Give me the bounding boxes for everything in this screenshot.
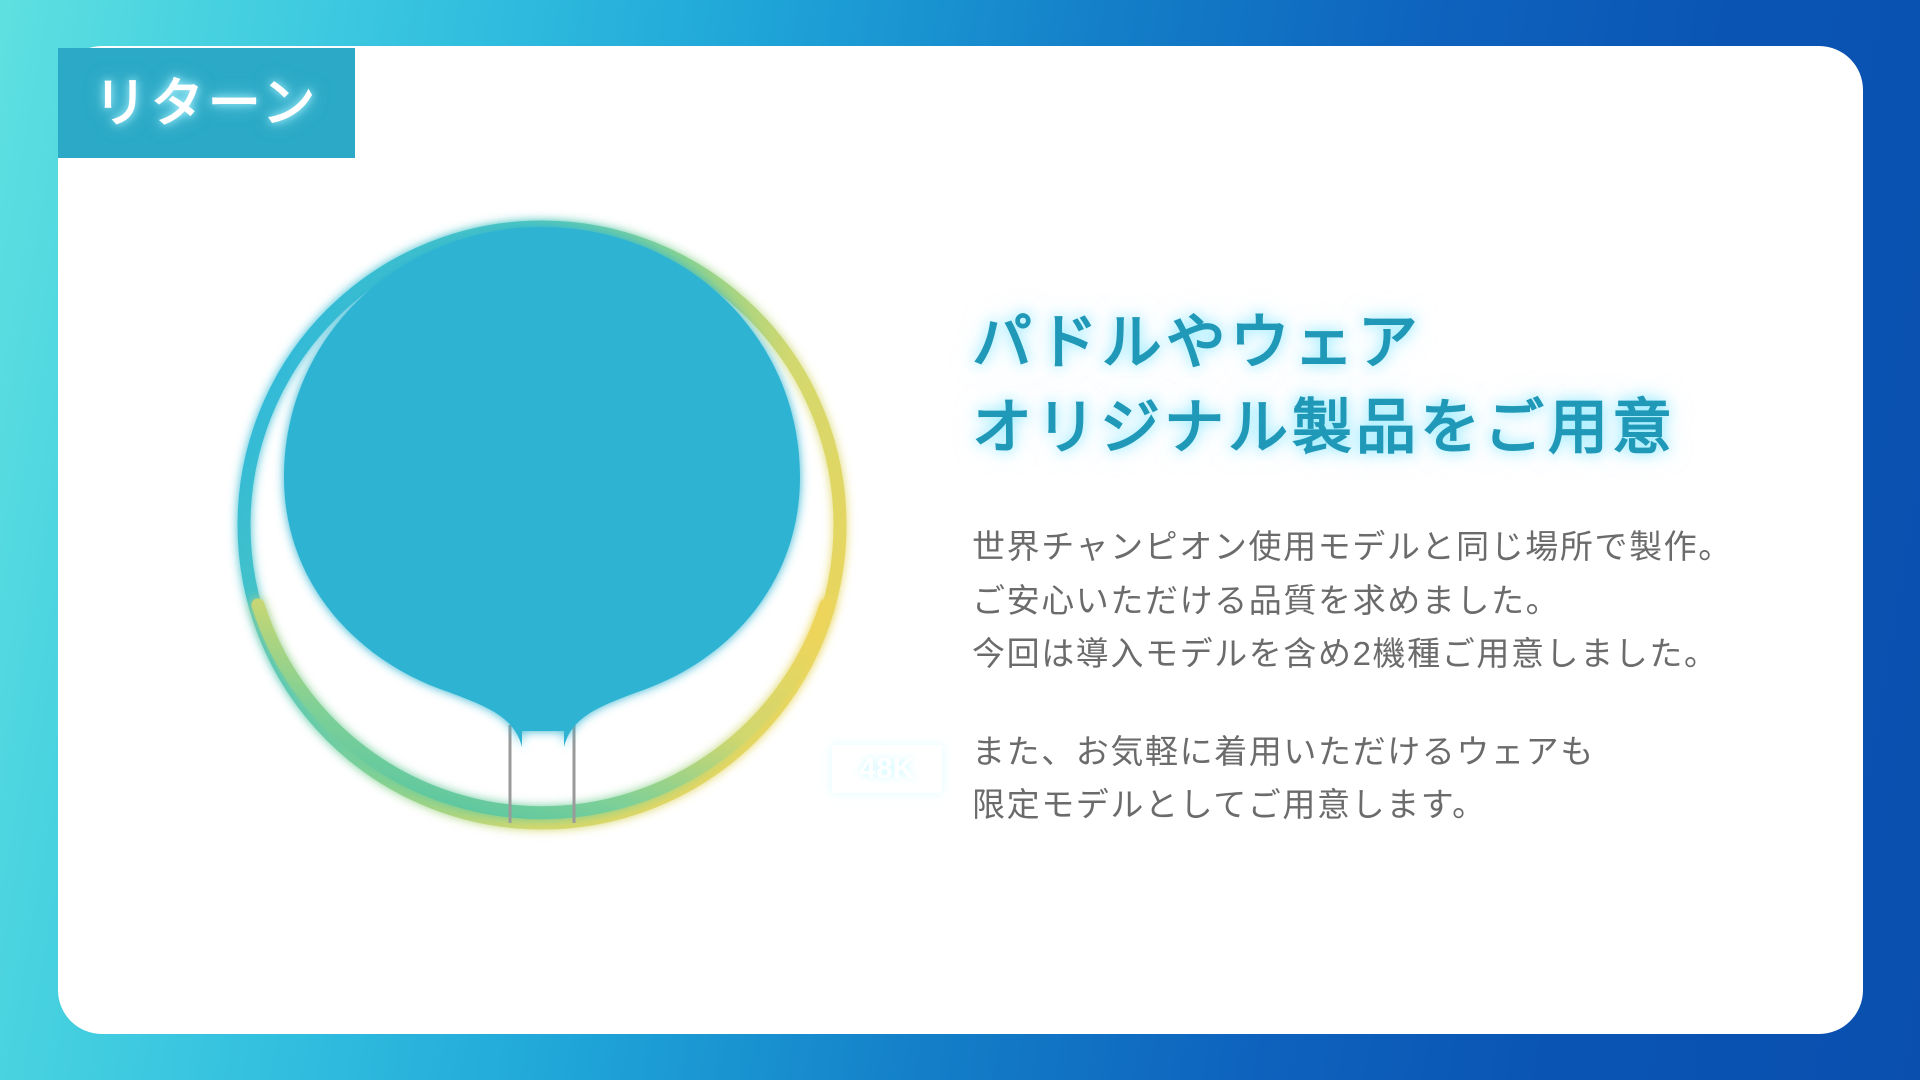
paragraph-1: 世界チャンピオン使用モデルと同じ場所で製作。 ご安心いただける品質を求めました。… (972, 520, 1822, 680)
spec-badge-label: 48K (860, 755, 915, 784)
body-copy: 世界チャンピオン使用モデルと同じ場所で製作。 ご安心いただける品質を求めました。… (972, 520, 1822, 831)
spec-badge-48k: 48K (832, 745, 942, 793)
headline: パドルやウェア オリジナル製品をご用意 (972, 300, 1822, 470)
paragraph-1-line-3: 今回は導入モデルを含め2機種ご用意しました。 (972, 627, 1822, 680)
paddle-illustration: 48K (222, 205, 862, 845)
paddle-face (284, 227, 800, 747)
paragraph-2: また、お気軽に着用いただけるウェアも 限定モデルとしてご用意します。 (972, 725, 1822, 832)
section-badge-label: リターン (94, 77, 319, 130)
slide-root: リターン (0, 0, 1920, 1080)
headline-line-1: パドルやウェア (972, 300, 1822, 385)
paragraph-1-line-2: ご安心いただける品質を求めました。 (972, 574, 1822, 627)
paragraph-2-line-1: また、お気軽に着用いただけるウェアも (972, 725, 1822, 778)
paragraph-1-line-1: 世界チャンピオン使用モデルと同じ場所で製作。 (972, 520, 1822, 573)
section-badge: リターン (58, 48, 355, 158)
headline-line-2: オリジナル製品をご用意 (972, 385, 1822, 470)
paragraph-2-line-2: 限定モデルとしてご用意します。 (972, 778, 1822, 831)
text-column: パドルやウェア オリジナル製品をご用意 世界チャンピオン使用モデルと同じ場所で製… (972, 300, 1822, 832)
